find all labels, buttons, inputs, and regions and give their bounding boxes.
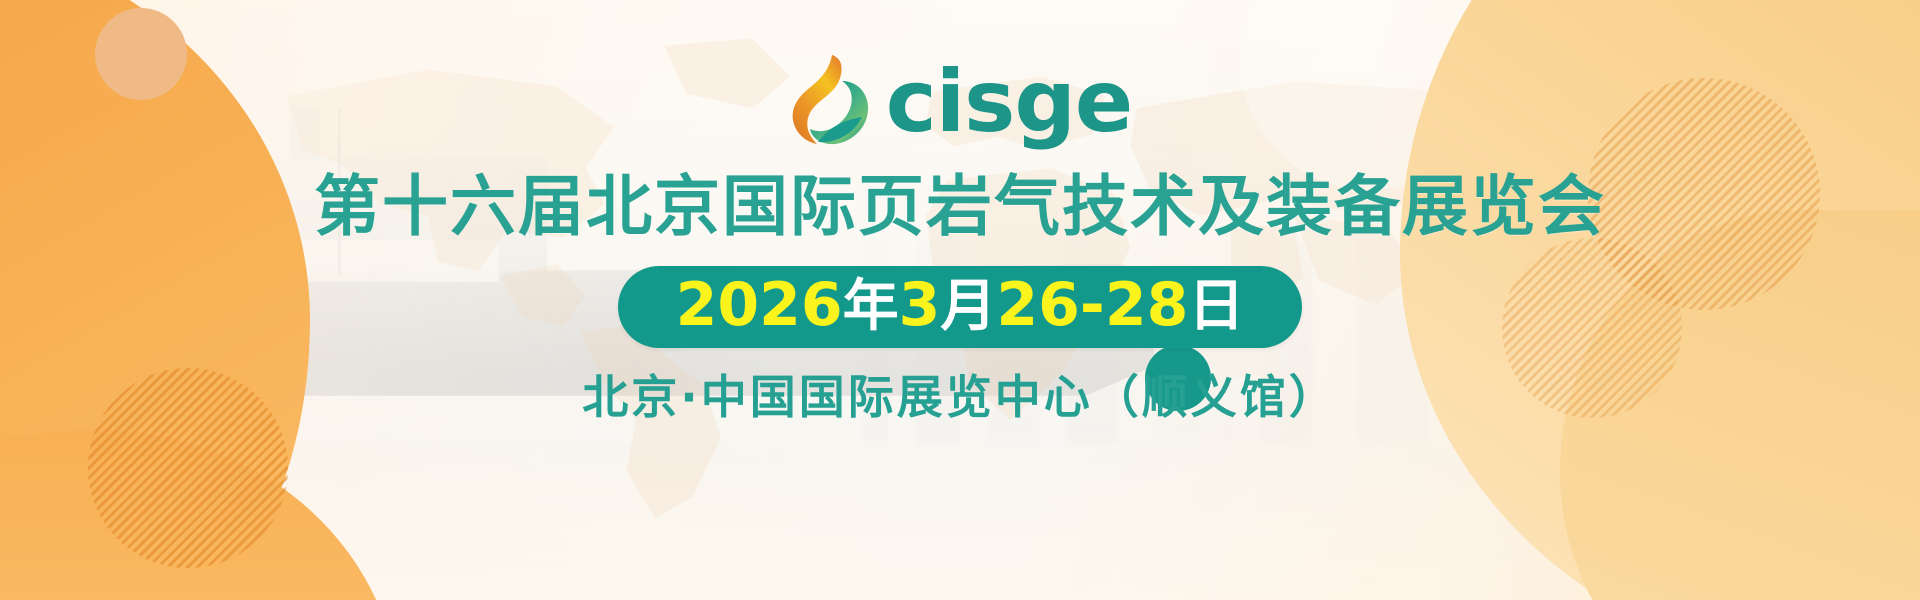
banner-content: cisge 第十六届北京国际页岩气技术及装备展览会 2026 年 3 月 26-… <box>0 0 1920 600</box>
exhibition-banner: cisge 第十六届北京国际页岩气技术及装备展览会 2026 年 3 月 26-… <box>0 0 1920 600</box>
date-badge: 2026 年 3 月 26-28 日 <box>618 266 1303 348</box>
date-month-unit: 月 <box>940 279 996 335</box>
venue-text: 北京·中国国际展览中心（顺义馆） <box>582 374 1337 420</box>
cisge-flame-leaf-logo-icon <box>788 54 870 146</box>
date-year: 2026 <box>676 275 843 335</box>
date-day-unit: 日 <box>1188 279 1244 335</box>
exhibition-title: 第十六届北京国际页岩气技术及装备展览会 <box>314 174 1606 240</box>
cisge-wordmark: cisge <box>886 59 1133 145</box>
date-month: 3 <box>899 275 941 335</box>
date-year-unit: 年 <box>843 279 899 335</box>
brand-logo-lockup: cisge <box>788 52 1133 148</box>
date-day-range: 26-28 <box>996 275 1188 335</box>
